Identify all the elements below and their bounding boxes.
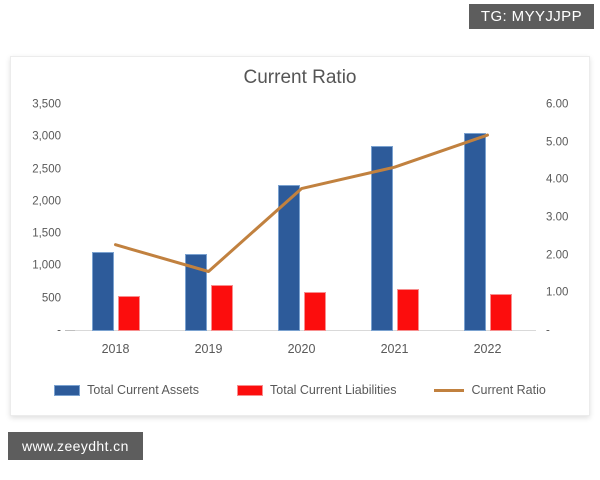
right-axis-tick-label: 4.00 [546, 175, 568, 187]
chart-legend: Total Current AssetsTotal Current Liabil… [11, 383, 589, 397]
bar-total-current-liabilities[interactable] [397, 289, 419, 331]
site-watermark-badge: www.zeeydht.cn [8, 432, 143, 460]
legend-label: Current Ratio [471, 383, 545, 397]
bar-total-current-assets[interactable] [464, 133, 486, 331]
left-axis-tick-label: 2,000 [32, 196, 61, 208]
bar-group [162, 105, 255, 331]
bar-group [255, 105, 348, 331]
legend-label: Total Current Assets [87, 383, 199, 397]
right-axis-tick-label: 3.00 [546, 212, 568, 224]
category-axis-label: 2021 [381, 342, 409, 356]
site-watermark-text: www.zeeydht.cn [22, 438, 129, 454]
bar-total-current-assets[interactable] [185, 254, 207, 331]
bar-total-current-liabilities[interactable] [304, 292, 326, 331]
legend-bar-swatch [54, 385, 80, 396]
chart-title: Current Ratio [11, 67, 589, 89]
legend-item[interactable]: Total Current Liabilities [237, 383, 396, 397]
left-axis-tick-label: 3,500 [32, 99, 61, 111]
left-axis-tick-label: 2,500 [32, 164, 61, 176]
telegram-watermark-text: TG: MYYJJPP [481, 8, 582, 25]
legend-line-swatch [434, 389, 464, 392]
right-axis-tick-label: 5.00 [546, 137, 568, 149]
chart-card: Current Ratio 3,5003,0002,5002,0001,5001… [10, 56, 590, 416]
left-axis-tick-label: - [57, 325, 61, 337]
right-axis-tick-label: 2.00 [546, 250, 568, 262]
bar-total-current-assets[interactable] [92, 252, 114, 331]
bar-group [348, 105, 441, 331]
category-axis-label: 2020 [288, 342, 316, 356]
legend-label: Total Current Liabilities [270, 383, 396, 397]
bar-total-current-assets[interactable] [278, 185, 300, 331]
right-axis-tick-label: 6.00 [546, 99, 568, 111]
left-axis-tick-label: 500 [42, 293, 61, 305]
bar-total-current-assets[interactable] [371, 146, 393, 331]
category-axis-label: 2019 [195, 342, 223, 356]
legend-item[interactable]: Total Current Assets [54, 383, 199, 397]
left-axis-tick-label: 1,500 [32, 228, 61, 240]
telegram-watermark-badge: TG: MYYJJPP [469, 4, 594, 29]
legend-item[interactable]: Current Ratio [434, 383, 545, 397]
plot-area: 3,5003,0002,5002,0001,5001,000500- 6.005… [69, 105, 534, 331]
left-axis-tick-label: 3,000 [32, 132, 61, 144]
category-axis-label: 2018 [102, 342, 130, 356]
legend-bar-swatch [237, 385, 263, 396]
bar-total-current-liabilities[interactable] [118, 296, 140, 331]
bar-total-current-liabilities[interactable] [211, 285, 233, 331]
bar-group [69, 105, 162, 331]
category-axis-label: 2022 [474, 342, 502, 356]
right-axis-tick-label: - [546, 325, 550, 337]
right-axis-tick-label: 1.00 [546, 288, 568, 300]
left-axis-tick-label: 1,000 [32, 261, 61, 273]
bar-group [441, 105, 534, 331]
bar-total-current-liabilities[interactable] [490, 294, 512, 331]
